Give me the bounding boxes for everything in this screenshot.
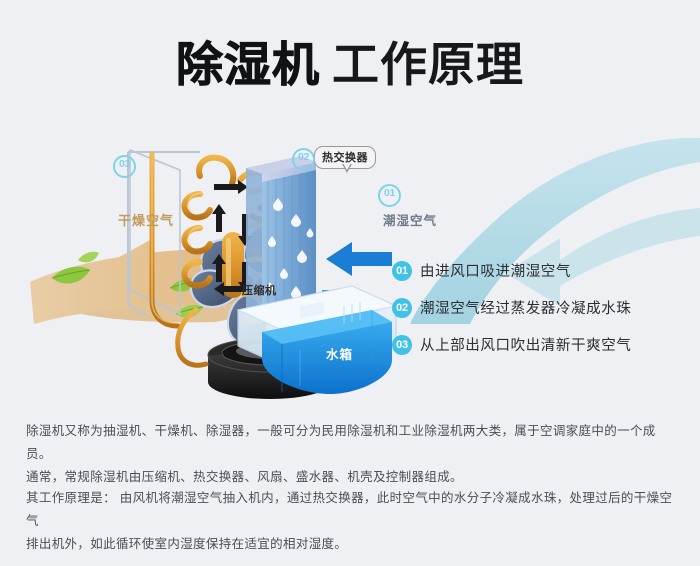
legend-badge-01: 01 — [392, 261, 412, 281]
page-title: 除湿机工作原理 — [0, 26, 700, 95]
label-water-tank: 水箱 — [326, 344, 353, 363]
label-compressor: 压缩机 — [242, 282, 277, 298]
legend-item-01: 01 由进风口吸进潮湿空气 — [392, 252, 692, 289]
diagram-badge-03: 03 — [113, 155, 136, 178]
paragraph-2-line-1: 其工作原理是： 由风机将潮湿空气抽入机内，通过热交换器，此时空气中的水分子冷凝成… — [26, 487, 676, 533]
paragraph-1-line-2: 通常，常规除湿机由压缩机、热交换器、风扇、盛水器、机壳及控制器组成。 — [26, 466, 676, 489]
label-humid-air: 潮湿空气 — [383, 210, 437, 229]
label-dry-air: 干燥空气 — [118, 210, 174, 229]
page-title-secondary: 工作原理 — [332, 38, 524, 91]
legend-badge-02: 02 — [392, 298, 412, 318]
paragraph-1-line-1: 除湿机又称为抽湿机、干燥机、除湿器，一般可分为民用除湿机和工业除湿机两大类，属于… — [26, 420, 676, 466]
description-paragraph-2: 其工作原理是： 由风机将潮湿空气抽入机内，通过热交换器，此时空气中的水分子冷凝成… — [26, 487, 676, 556]
description-paragraph-1: 除湿机又称为抽湿机、干燥机、除湿器，一般可分为民用除湿机和工业除湿机两大类，属于… — [26, 420, 676, 489]
legend-item-02: 02 潮湿空气经过蒸发器冷凝成水珠 — [392, 289, 692, 326]
diagram-badge-01: 01 — [378, 184, 401, 207]
legend-text-03: 从上部出风口吹出清新干爽空气 — [420, 334, 631, 355]
legend-text-01: 由进风口吸进潮湿空气 — [420, 260, 571, 281]
legend-item-03: 03 从上部出风口吹出清新干爽空气 — [392, 326, 692, 363]
page-title-primary: 除湿机 — [176, 38, 320, 91]
intake-arrow — [326, 242, 392, 276]
callout-tail-icon — [342, 164, 352, 173]
paragraph-2-line-2: 排出机外，如此循环使室内湿度保持在适宜的相对湿度。 — [26, 533, 676, 556]
diagram-badge-02: 02 — [292, 148, 315, 171]
legend-list: 01 由进风口吸进潮湿空气 02 潮湿空气经过蒸发器冷凝成水珠 03 从上部出风… — [392, 252, 692, 363]
legend-badge-03: 03 — [392, 335, 412, 355]
legend-text-02: 潮湿空气经过蒸发器冷凝成水珠 — [420, 297, 631, 318]
